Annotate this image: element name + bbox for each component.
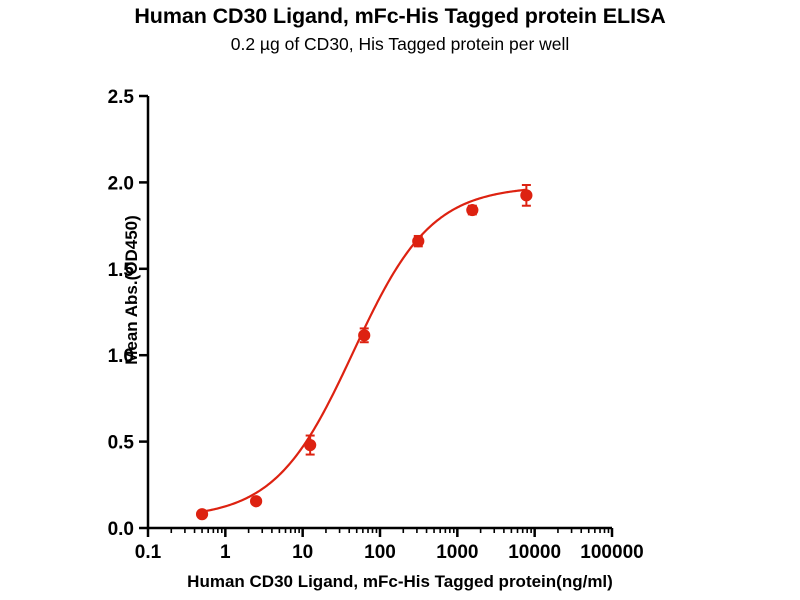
x-tick-label: 10 [292, 542, 313, 563]
y-tick-label: 2.5 [108, 87, 135, 108]
data-point-marker [467, 204, 478, 215]
data-point-group [467, 204, 478, 215]
data-point-marker [359, 330, 370, 341]
data-point-marker [305, 439, 316, 450]
y-tick-label: 0.0 [108, 519, 134, 540]
x-tick-label: 0.1 [135, 542, 162, 563]
data-point-group [196, 509, 207, 520]
data-point-marker [251, 496, 262, 507]
x-tick-label: 1000 [436, 542, 478, 563]
data-point-marker [413, 236, 424, 247]
x-tick-label: 1 [220, 542, 231, 563]
data-point-marker [196, 509, 207, 520]
data-point-group [413, 236, 424, 247]
plot-area: 0.00.51.01.52.02.50.11101001000100001000… [0, 0, 800, 600]
y-tick-label: 0.5 [108, 433, 135, 454]
elisa-chart-figure: Human CD30 Ligand, mFc-His Tagged protei… [0, 0, 800, 600]
data-point-marker [521, 190, 532, 201]
x-axis-label: Human CD30 Ligand, mFc-His Tagged protei… [0, 572, 800, 592]
fit-curve [202, 190, 526, 512]
x-tick-label: 100 [364, 542, 396, 563]
y-tick-label: 1.5 [108, 260, 135, 281]
y-tick-label: 1.0 [108, 346, 134, 367]
data-point-group [521, 185, 532, 206]
y-tick-label: 2.0 [108, 173, 134, 194]
data-point-group [359, 328, 370, 342]
data-point-group [251, 496, 262, 507]
data-point-group [305, 436, 316, 455]
x-tick-label: 100000 [580, 542, 643, 563]
x-tick-label: 10000 [508, 542, 561, 563]
